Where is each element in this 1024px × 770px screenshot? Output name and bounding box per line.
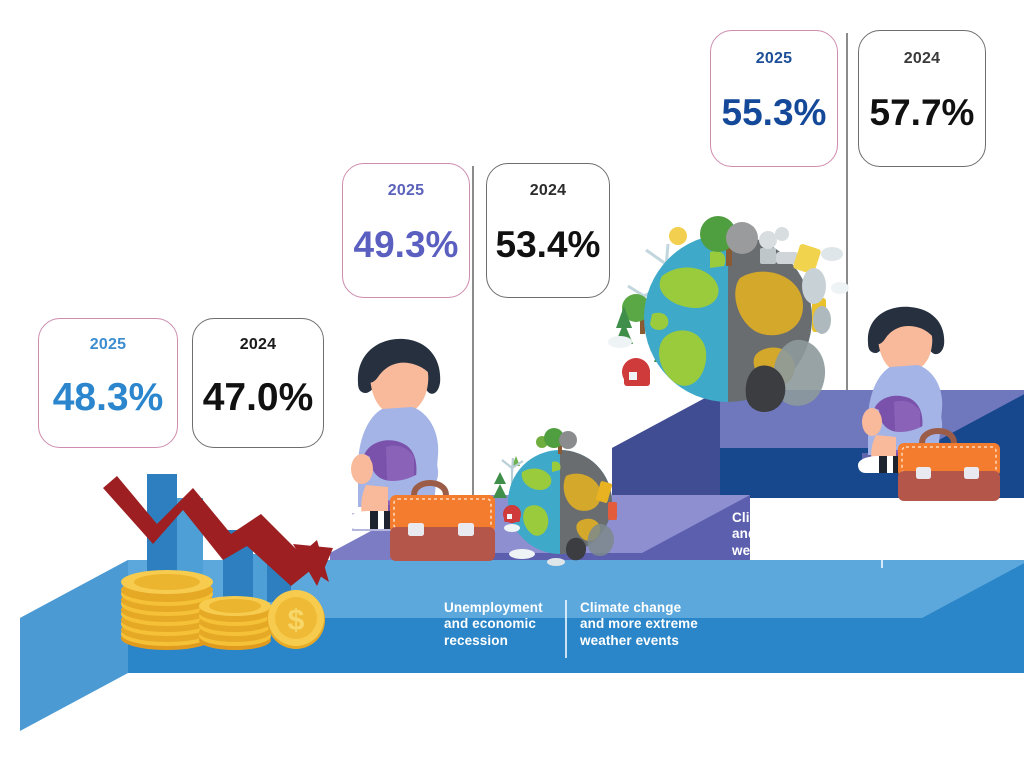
stat-card-year: 2024 [530,182,566,200]
platform-label-step-3-0: Climate change and more extreme weather … [732,510,877,559]
platform-label-separator-step-2 [565,600,567,658]
stat-card-value: 48.3% [53,378,164,417]
stat-card-step3-2025[interactable]: 2025 55.3% [710,30,838,167]
svg-text:$: $ [288,604,305,637]
stat-card-year: 2024 [904,50,940,68]
stat-card-year: 2025 [388,182,424,200]
stat-card-step3-2024[interactable]: 2024 57.7% [858,30,986,167]
polluted-globe-icon [600,190,850,425]
stat-card-value: 47.0% [203,378,314,417]
stat-card-step1-2024[interactable]: 2024 47.0% [192,318,324,448]
declining-chart-coins-icon: $ [95,462,345,652]
stat-card-step2-2025[interactable]: 2025 49.3% [342,163,470,298]
sad-person-briefcase-icon-2 [840,305,1005,490]
stat-card-step2-2024[interactable]: 2024 53.4% [486,163,610,298]
platform-label-separator-step-3 [881,510,883,568]
platform-label-step-2-0: Unemployment and economic recession [444,600,569,649]
platform-label-step-1-0: Intensifying economic tensions between m… [139,705,439,738]
stat-card-year: 2025 [90,336,126,354]
platform-label-step-3-1: Unemployment and economic recession [896,510,1024,559]
stat-card-value: 57.7% [870,94,975,131]
sad-person-briefcase-icon [330,335,495,560]
stat-card-year: 2024 [240,336,276,354]
infographic-canvas: Intensifying economic tensions between m… [0,0,1024,770]
stat-card-value: 53.4% [496,226,601,263]
stat-card-year: 2025 [756,50,792,68]
stat-card-value: 55.3% [722,94,827,131]
platform-label-step-2-1: Climate change and more extreme weather … [580,600,725,649]
polluted-globe-small-icon [482,428,642,578]
stat-card-value: 49.3% [354,226,459,263]
stat-card-step1-2025[interactable]: 2025 48.3% [38,318,178,448]
